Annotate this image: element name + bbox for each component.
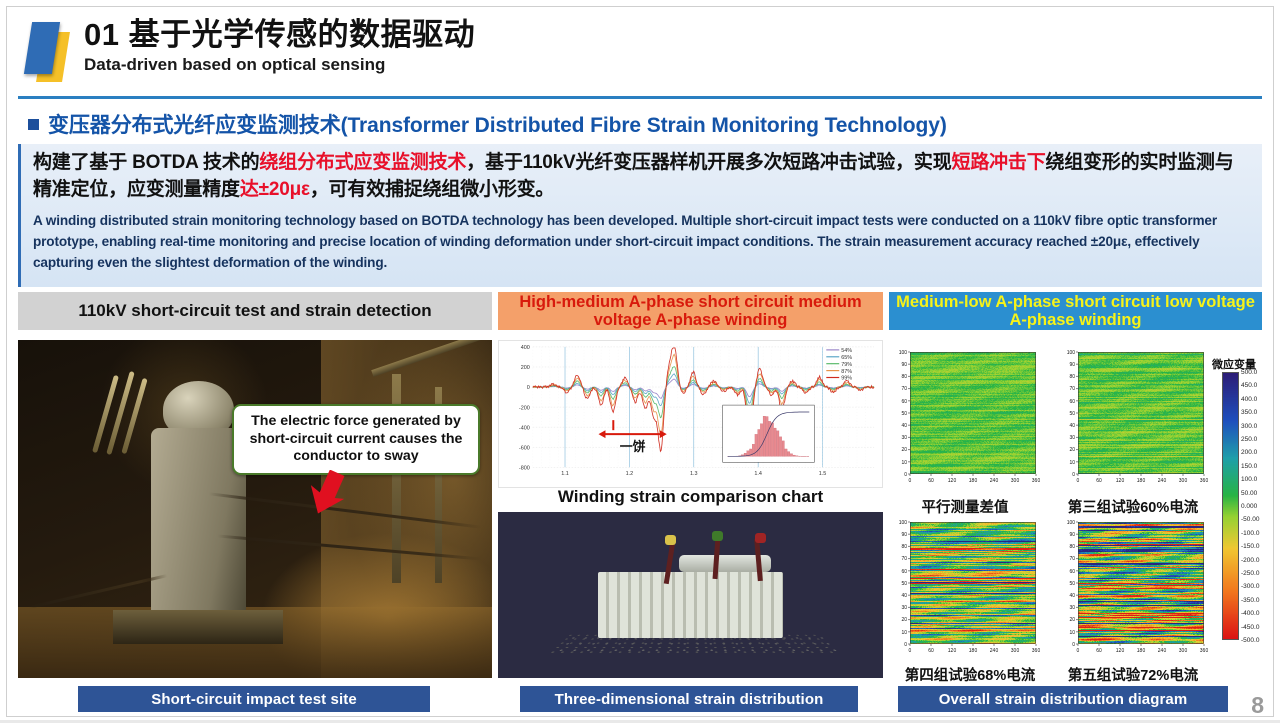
colorbar-tick: -150.0 xyxy=(1241,543,1259,550)
cn-seg-2: ，基于110kV光纤变压器样机开展多次短路冲击试验，实现 xyxy=(466,152,951,173)
cn-highlight-3: 达±20με xyxy=(240,179,310,200)
colorbar-tick: 400.0 xyxy=(1241,396,1257,403)
column-header-left: 110kV short-circuit test and strain dete… xyxy=(18,292,492,330)
svg-text:-800: -800 xyxy=(519,465,530,471)
colorbar-tick: 300.0 xyxy=(1241,423,1257,430)
colorbar-tick: -500.0 xyxy=(1241,637,1259,644)
caption-middle: Three-dimensional strain distribution xyxy=(520,686,858,712)
heatmap-caption-3: 第五组试验72%电流 xyxy=(1043,664,1223,685)
cn-highlight-2: 短路冲击下 xyxy=(952,152,1046,173)
page-number: 8 xyxy=(1251,692,1264,719)
three-dimensional-strain-render xyxy=(498,512,883,678)
heatmap-canvas-0 xyxy=(890,348,1040,488)
colorbar-tick: -50.00 xyxy=(1241,516,1259,523)
header-title-group: 01 基于光学传感的数据驱动 Data-driven based on opti… xyxy=(84,18,475,75)
colorbar-tick: -200.0 xyxy=(1241,557,1259,564)
colorbar-tick: 100.0 xyxy=(1241,476,1257,483)
svg-text:0: 0 xyxy=(527,385,530,391)
render-bushing-cap-green xyxy=(712,531,723,541)
bullet-square-icon xyxy=(28,119,39,130)
column-header-row: 110kV short-circuit test and strain dete… xyxy=(18,292,1262,330)
slide-header: 01 基于光学传感的数据驱动 Data-driven based on opti… xyxy=(0,0,1280,96)
heatmap-caption-0: 平行测量差值 xyxy=(880,496,1050,517)
svg-text:-600: -600 xyxy=(519,445,530,451)
slide: 01 基于光学传感的数据驱动 Data-driven based on opti… xyxy=(0,0,1280,723)
photo-transformer-base xyxy=(113,610,284,644)
svg-text:-200: -200 xyxy=(519,405,530,411)
heatmap-canvas-2 xyxy=(890,518,1040,658)
colorbar-tick: -100.0 xyxy=(1241,530,1259,537)
test-site-photo: The electric force generated by short-ci… xyxy=(18,340,492,678)
page-title-cn: 01 基于光学传感的数据驱动 xyxy=(84,18,475,53)
heatmap-panel-3 xyxy=(1058,518,1208,658)
section-title-label: 变压器分布式光纤应变监测技术(Transformer Distributed F… xyxy=(48,109,947,139)
colorbar-tick: -250.0 xyxy=(1241,570,1259,577)
svg-text:65%: 65% xyxy=(841,355,852,361)
colorbar-tick-labels: 500.0450.0400.0350.0300.0250.0200.0150.0… xyxy=(1241,368,1279,644)
colorbar-tick: 0.000 xyxy=(1241,503,1257,510)
svg-text:1.4: 1.4 xyxy=(754,471,762,477)
colorbar-tick: -350.0 xyxy=(1241,597,1259,604)
svg-text:1.1: 1.1 xyxy=(561,471,569,477)
cn-highlight-1: 绕组分布式应变监测技术 xyxy=(259,152,466,173)
svg-text:1.3: 1.3 xyxy=(690,471,698,477)
svg-text:一饼: 一饼 xyxy=(620,439,646,454)
heatmap-canvas-1 xyxy=(1058,348,1208,488)
colorbar-tick: 50.00 xyxy=(1241,490,1257,497)
page-title-en: Data-driven based on optical sensing xyxy=(84,55,475,75)
photo-callout-box: The electric force generated by short-ci… xyxy=(232,404,480,475)
cn-seg-4: ，可有效捕捉绕组微小形变。 xyxy=(310,179,554,200)
render-winding-core xyxy=(598,572,783,638)
colorbar-tick: 500.0 xyxy=(1241,369,1257,376)
heatmap-panel-2 xyxy=(890,518,1040,658)
svg-text:99%: 99% xyxy=(841,376,852,382)
render-bushing-cap-red xyxy=(755,533,766,543)
colorbar-tick: 450.0 xyxy=(1241,382,1257,389)
colorbar xyxy=(1222,372,1239,640)
colorbar-tick: -450.0 xyxy=(1241,624,1259,631)
svg-text:1.5: 1.5 xyxy=(819,471,827,477)
heatmap-panel-0 xyxy=(890,348,1040,488)
heatmap-canvas-3 xyxy=(1058,518,1208,658)
svg-text:200: 200 xyxy=(521,365,530,371)
heatmap-panel-1 xyxy=(1058,348,1208,488)
caption-left: Short-circuit impact test site xyxy=(78,686,430,712)
colorbar-tick: 200.0 xyxy=(1241,449,1257,456)
render-bushing-cap-yellow xyxy=(665,535,676,545)
colorbar-tick: 350.0 xyxy=(1241,409,1257,416)
heatmap-caption-2: 第四组试验68%电流 xyxy=(880,664,1060,685)
svg-text:79%: 79% xyxy=(841,362,852,368)
cn-seg-1: 构建了基于 BOTDA 技术的 xyxy=(33,152,259,173)
svg-text:400: 400 xyxy=(521,345,530,351)
heatmap-caption-1: 第三组试验60%电流 xyxy=(1043,496,1223,517)
winding-strain-chart: -800-600-400-20002004001.11.21.31.41.5一饼… xyxy=(498,340,883,488)
company-logo xyxy=(20,18,82,84)
body-text-panel: 构建了基于 BOTDA 技术的绕组分布式应变监测技术，基于110kV光纤变压器样… xyxy=(18,144,1262,287)
colorbar-tick: -300.0 xyxy=(1241,583,1259,590)
column-header-middle: High-medium A-phase short circuit medium… xyxy=(498,292,883,330)
strain-chart-svg: -800-600-400-20002004001.11.21.31.41.5一饼… xyxy=(499,341,882,487)
svg-text:54%: 54% xyxy=(841,348,852,354)
chinese-paragraph: 构建了基于 BOTDA 技术的绕组分布式应变监测技术，基于110kV光纤变压器样… xyxy=(33,150,1250,204)
svg-text:-400: -400 xyxy=(519,425,530,431)
chart-title-label: Winding strain comparison chart xyxy=(498,487,883,509)
colorbar-tick: -400.0 xyxy=(1241,610,1259,617)
colorbar-tick: 250.0 xyxy=(1241,436,1257,443)
header-divider xyxy=(18,96,1262,99)
english-paragraph: A winding distributed strain monitoring … xyxy=(33,210,1250,273)
column-header-right: Medium-low A-phase short circuit low vol… xyxy=(889,292,1262,330)
svg-text:87%: 87% xyxy=(841,369,852,375)
svg-text:1.2: 1.2 xyxy=(626,471,634,477)
caption-right: Overall strain distribution diagram xyxy=(898,686,1228,712)
section-title: 变压器分布式光纤应变监测技术(Transformer Distributed F… xyxy=(18,106,1262,142)
colorbar-tick: 150.0 xyxy=(1241,463,1257,470)
red-arrow-icon xyxy=(306,470,346,516)
